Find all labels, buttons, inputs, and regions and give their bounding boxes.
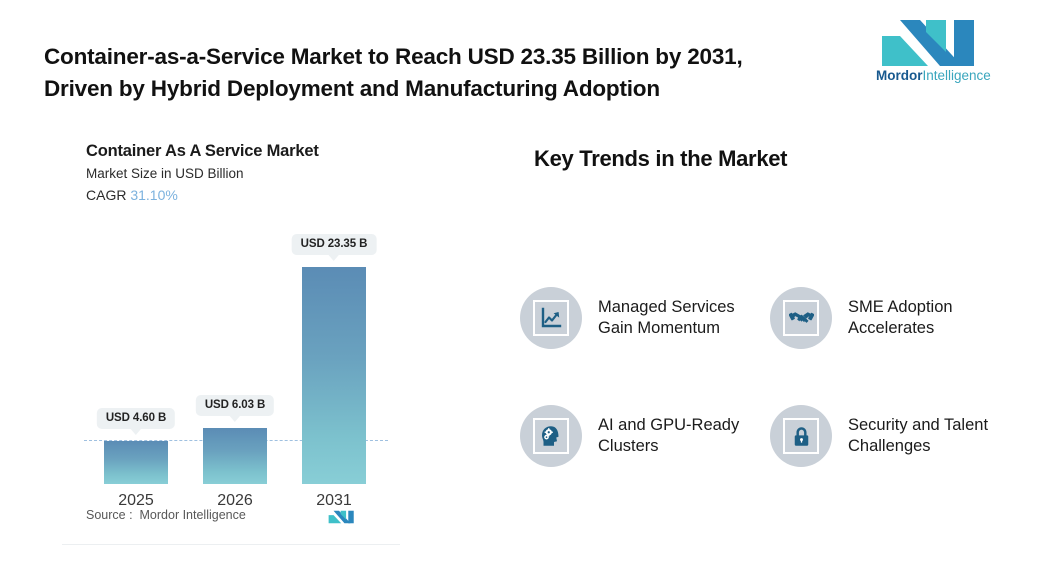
bar-2031	[302, 267, 366, 484]
trend-item-security-talent: Security and Talent Challenges	[770, 388, 1020, 484]
ai-head-gears-icon	[533, 418, 569, 454]
trend-icon-badge	[770, 405, 832, 467]
bar-value-label-2026: USD 6.03 B	[196, 395, 274, 416]
mordor-intelligence-logo-icon	[876, 18, 986, 68]
market-size-chart-card: Container As A Service Market Market Siz…	[62, 120, 400, 545]
page-header: Container-as-a-Service Market to Reach U…	[0, 0, 1041, 110]
lock-icon	[783, 418, 819, 454]
page-title-line-2: Driven by Hybrid Deployment and Manufact…	[44, 73, 854, 105]
mordor-mark-icon	[327, 508, 357, 526]
bar-2026	[203, 428, 267, 484]
page-title-line-1: Container-as-a-Service Market to Reach U…	[44, 44, 743, 69]
bar-2025	[104, 441, 168, 484]
brand-name-secondary: Intelligence	[923, 68, 991, 83]
key-trends-grid: Managed Services Gain Momentum	[520, 270, 1030, 484]
trend-icon-badge	[520, 287, 582, 349]
chart-source-name: Mordor Intelligence	[140, 508, 246, 522]
chart-growth-icon	[533, 300, 569, 336]
brand-logo-wordmark: MordorIntelligence	[876, 68, 986, 84]
chart-source: Source : Mordor Intelligence	[86, 508, 246, 522]
bar-value-label-2025: USD 4.60 B	[97, 408, 175, 429]
page-title: Container-as-a-Service Market to Reach U…	[44, 41, 854, 105]
brand-logo: MordorIntelligence	[876, 18, 986, 90]
trend-item-sme-adoption: SME Adoption Accelerates	[770, 270, 1020, 366]
trend-label: Managed Services Gain Momentum	[598, 297, 748, 339]
key-trends-title: Key Trends in the Market	[534, 146, 787, 172]
brand-name-primary: Mordor	[876, 68, 923, 83]
bar-value-label-2031: USD 23.35 B	[292, 234, 377, 255]
trend-label: AI and GPU-Ready Clusters	[598, 415, 748, 457]
trend-label: SME Adoption Accelerates	[848, 297, 1020, 339]
trend-item-managed-services: Managed Services Gain Momentum	[520, 270, 770, 366]
trend-icon-badge	[770, 287, 832, 349]
bar-chart-plot-area: USD 4.60 B 2025 USD 6.03 B 2026 USD 23.3…	[62, 120, 400, 545]
chart-source-label: Source :	[86, 508, 133, 522]
trend-icon-badge	[520, 405, 582, 467]
key-trends-panel: Key Trends in the Market Managed Service…	[510, 130, 1030, 480]
trend-label: Security and Talent Challenges	[848, 415, 998, 457]
trend-item-ai-gpu-clusters: AI and GPU-Ready Clusters	[520, 388, 770, 484]
handshake-icon	[783, 300, 819, 336]
